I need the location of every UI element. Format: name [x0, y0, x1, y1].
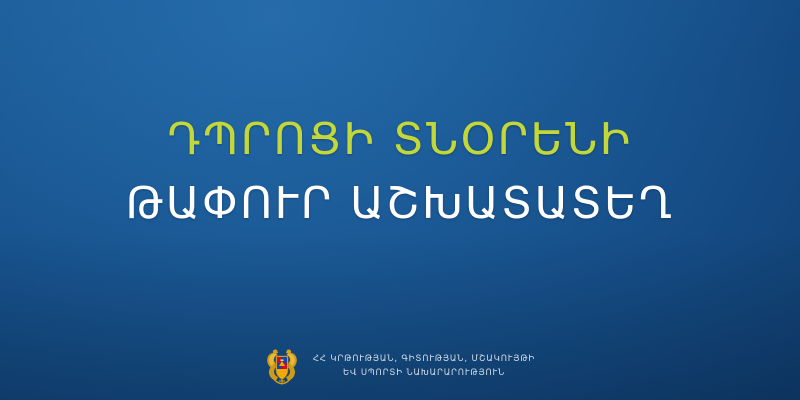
ministry-line-2: ԵՎ ՍՊՈՐՏԻ ՆԱԽԱՐԱՐՈՒԹՅՈՒՆ	[343, 368, 505, 379]
headline-block: ԴՊՐՈՑԻ ՏՆՕՐԵՆԻ ԹԱՓՈՒՐ ԱՇԽԱՏԱՏԵՂ	[0, 118, 800, 226]
armenia-coat-of-arms-icon	[265, 346, 299, 386]
ministry-name: ՀՀ ԿՐԹՈՒԹՅԱՆ, ԳԻՏՈՒԹՅԱՆ, ՄՇԱԿՈՒՅԹԻ ԵՎ ՍՊ…	[313, 354, 535, 378]
headline-line-1: ԴՊՐՈՑԻ ՏՆՕՐԵՆԻ	[0, 118, 800, 162]
footer-ministry-block: ՀՀ ԿՐԹՈՒԹՅԱՆ, ԳԻՏՈՒԹՅԱՆ, ՄՇԱԿՈՒՅԹԻ ԵՎ ՍՊ…	[0, 346, 800, 386]
headline-line-2: ԹԱՓՈՒՐ ԱՇԽԱՏԱՏԵՂ	[0, 182, 800, 226]
announcement-banner: ԴՊՐՈՑԻ ՏՆՕՐԵՆԻ ԹԱՓՈՒՐ ԱՇԽԱՏԱՏԵՂ	[0, 0, 800, 400]
ministry-line-1: ՀՀ ԿՐԹՈՒԹՅԱՆ, ԳԻՏՈՒԹՅԱՆ, ՄՇԱԿՈՒՅԹԻ	[313, 354, 535, 365]
